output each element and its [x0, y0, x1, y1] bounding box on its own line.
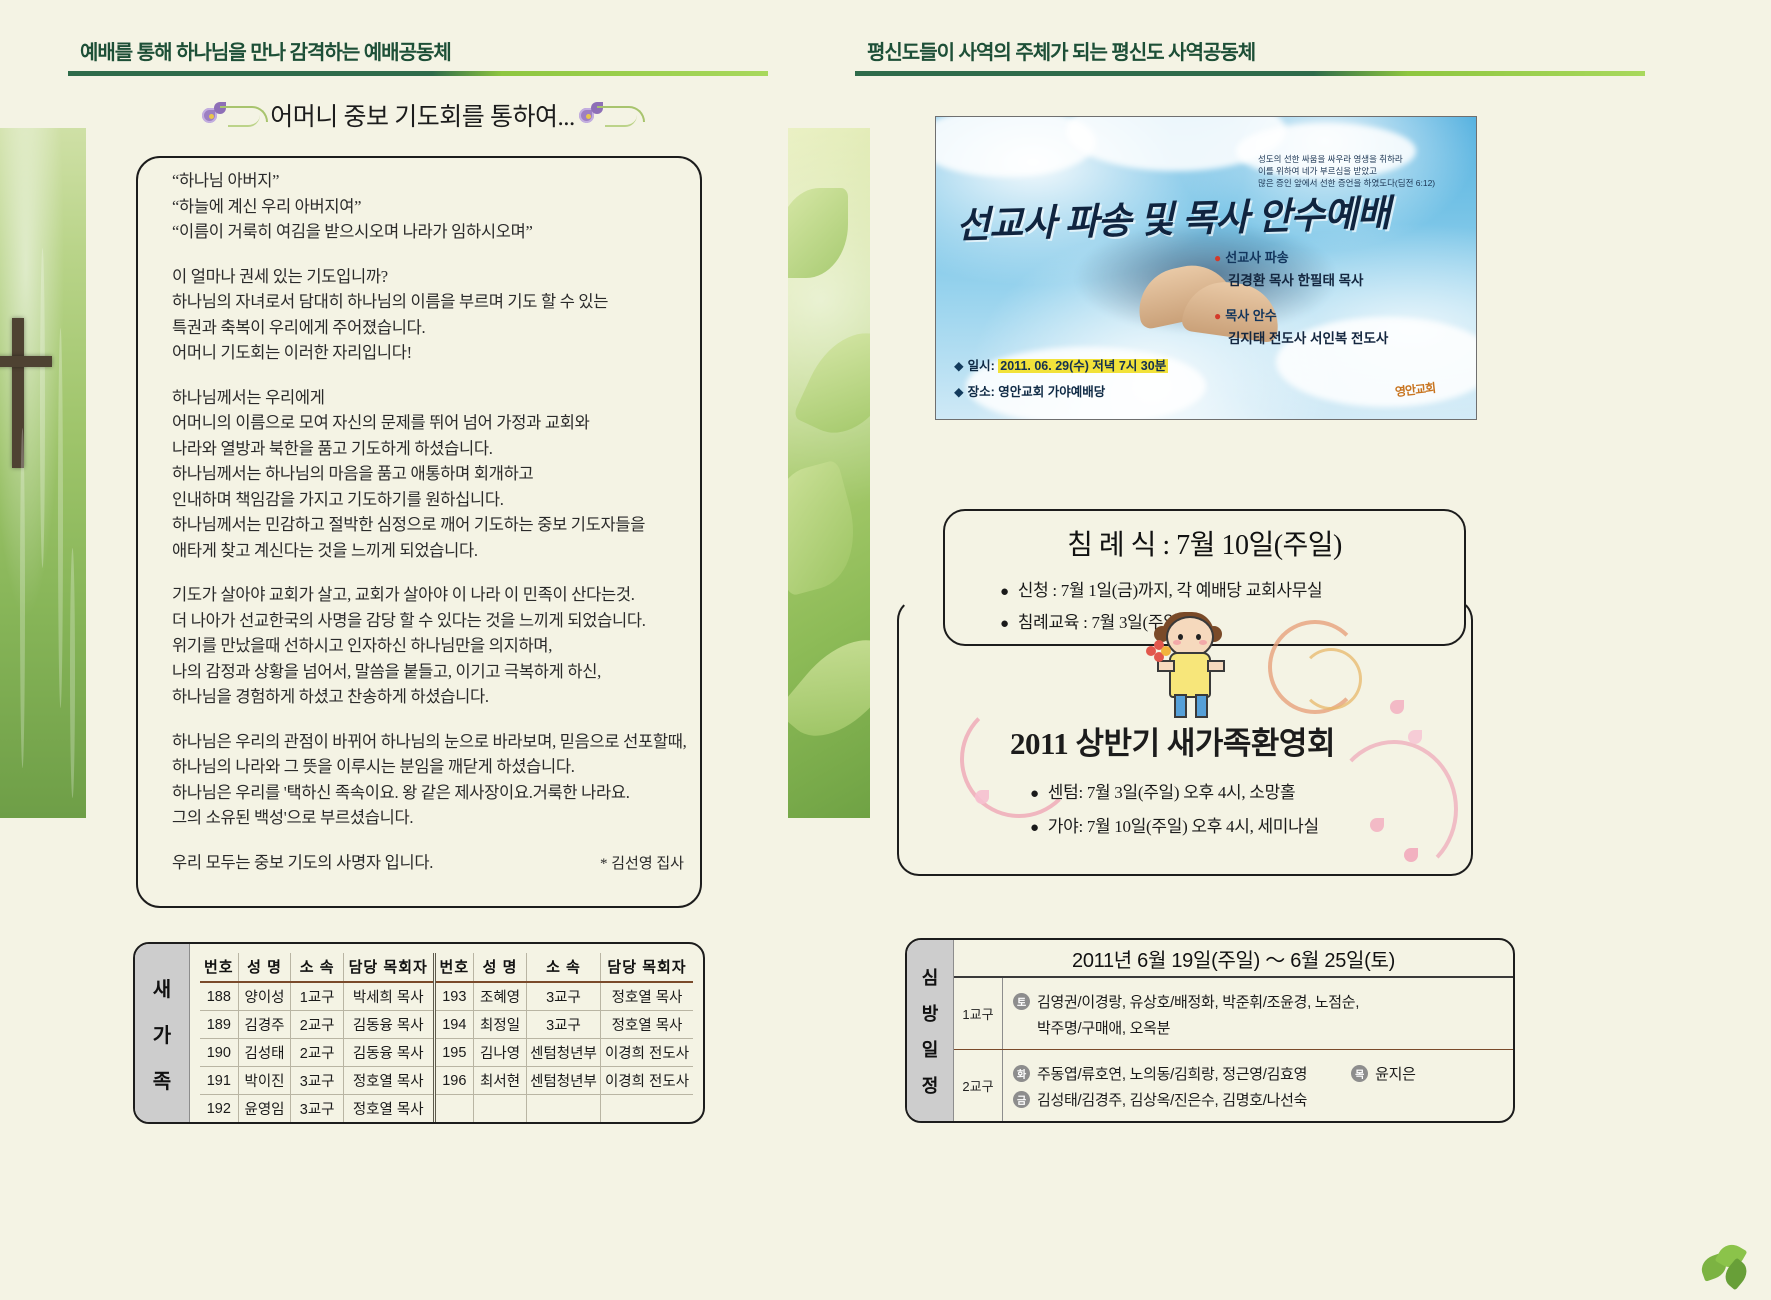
table-row: 191 박이진 3교구 정호열 목사 196 최서현 센텀청년부 이경희 전도사: [200, 1067, 693, 1095]
girl-illustration-icon: [1152, 612, 1226, 716]
cell-group-2: 센텀청년부: [526, 1039, 600, 1067]
visitation-row: 1교구 토 김영권/이경랑, 유상호/배정화, 박준휘/조윤경, 노점순, 박주…: [954, 978, 1513, 1050]
diamond-icon: ◆: [954, 385, 964, 399]
col-group: 소 속: [291, 953, 343, 982]
col-pastor: 담당 목회자: [343, 953, 434, 982]
bullet-icon: ●: [1030, 786, 1039, 802]
new-family-table-panel: 새 가 족 번호 성 명 소 속 담당 목회자 번호 성 명 소 속 담당 목회…: [133, 942, 705, 1124]
visitation-names: 김영권/이경랑, 유상호/배정화, 박준휘/조윤경, 노점순,: [1037, 991, 1359, 1012]
visitation-date-range: 2011년 6월 19일(주일) ～ 6월 25일(토): [954, 940, 1513, 978]
cell-pastor-2: 정호열 목사: [601, 1011, 693, 1039]
photo-strip-cross-field: [0, 128, 86, 818]
new-family-label: 새 가 족: [135, 944, 190, 1122]
cell-name-2: 김나영: [474, 1039, 527, 1067]
bulletin-page: 예배를 통해 하나님을 만나 감격하는 예배공동체 평신도들이 사역의 주체가 …: [0, 0, 1771, 1300]
cell-group: 3교구: [291, 1095, 343, 1123]
visitation-main: 2011년 6월 19일(주일) ～ 6월 25일(토) 1교구 토 김영권/이…: [954, 940, 1513, 1121]
col-pastor-2: 담당 목회자: [601, 953, 693, 982]
visitation-group: 1교구: [954, 978, 1003, 1049]
col-no: 번호: [200, 953, 238, 982]
table-row: 189 김경주 2교구 김동융 목사 194 최정일 3교구 정호열 목사: [200, 1011, 693, 1039]
article-body: “하나님 아버지” “하늘에 계신 우리 아버지여” “이름이 거룩히 여김을 …: [172, 168, 692, 875]
poster-item-names-1: 김경환 목사 한필태 목사: [1228, 269, 1363, 289]
bullet-icon: ●: [1030, 820, 1039, 836]
visitation-line: 금 김성태/김경주, 김상옥/진은수, 김명호/나선숙: [1013, 1089, 1505, 1110]
header-right-rule: [855, 71, 1645, 76]
col-group-2: 소 속: [526, 953, 600, 982]
missionary-ordination-poster: 성도의 선한 싸움을 싸우라 영생을 취하라 이를 위하여 네가 부르심을 받았…: [935, 116, 1477, 420]
visitation-label-char: 심: [922, 964, 939, 990]
header-left-rule: [68, 71, 768, 76]
header-right-text: 평신도들이 사역의 주체가 되는 평신도 사역공동체: [855, 36, 1645, 65]
visitation-names: 김성태/김경주, 김상옥/진은수, 김명호/나선숙: [1037, 1089, 1307, 1110]
article-paragraph: 이 얼마나 권세 있는 기도입니까? 하나님의 자녀로서 담대히 하나님의 이름…: [172, 264, 692, 366]
article-title-bar: 어머니 중보 기도회를 통하여...: [135, 92, 710, 138]
table-header-row: 번호 성 명 소 속 담당 목회자 번호 성 명 소 속 담당 목회자: [200, 953, 693, 982]
visitation-extra: 목 윤지은: [1329, 1063, 1416, 1084]
cell-name: 박이진: [238, 1067, 291, 1095]
welcome-title: 2011 상반기 새가족환영회: [1010, 718, 1430, 763]
new-family-label-char: 족: [153, 1065, 171, 1094]
col-name-2: 성 명: [474, 953, 527, 982]
visitation-line: 화 주동엽/류호연, 노의동/김희랑, 정근영/김효영 목 윤지은: [1013, 1063, 1505, 1084]
poster-place: ◆장소: 영안교회 가야예배당: [954, 381, 1105, 400]
visitation-entries: 화 주동엽/류호연, 노의동/김희랑, 정근영/김효영 목 윤지은 금 김성태/…: [1003, 1050, 1513, 1121]
cell-no: 191: [200, 1067, 238, 1095]
article-paragraph: 하나님은 우리의 관점이 바뀌어 하나님의 눈으로 바라보며, 믿음으로 선포할…: [172, 729, 692, 831]
header-right: 평신도들이 사역의 주체가 되는 평신도 사역공동체: [855, 36, 1645, 76]
header-left-text: 예배를 통해 하나님을 만나 감격하는 예배공동체: [68, 36, 768, 65]
poster-item-heading-1: ●선교사 파송: [1214, 247, 1289, 266]
table-row: 188 양이성 1교구 박세희 목사 193 조혜영 3교구 정호열 목사: [200, 982, 693, 1011]
cell-no-2: 193: [434, 982, 474, 1011]
visitation-label: 심 방 일 정: [907, 940, 954, 1121]
church-logo: 영안교회: [1370, 365, 1460, 414]
table-row: 192 윤영임 3교구 정호열 목사: [200, 1095, 693, 1123]
visitation-row: 2교구 화 주동엽/류호연, 노의동/김희랑, 정근영/김효영 목 윤지은 금 …: [954, 1050, 1513, 1121]
visitation-label-char: 일: [922, 1036, 939, 1062]
cell-name-2: 최정일: [474, 1011, 527, 1039]
poster-item-heading-2: ●목사 안수: [1214, 305, 1277, 324]
diamond-icon: ◆: [954, 359, 964, 373]
article-credit: * 김선영 집사: [172, 852, 684, 873]
new-family-table: 번호 성 명 소 속 담당 목회자 번호 성 명 소 속 담당 목회자 188 …: [200, 953, 693, 1122]
day-chip-icon: 목: [1351, 1065, 1368, 1082]
cell-group-2: 센텀청년부: [526, 1067, 600, 1095]
day-chip-icon: 화: [1013, 1065, 1030, 1082]
welcome-line-2: ●가야: 7월 10일(주일) 오후 4시, 세미나실: [1030, 812, 1319, 837]
cell-no-2: 196: [434, 1067, 474, 1095]
visitation-names: 박주명/구매애, 오옥분: [1037, 1017, 1170, 1038]
cell-no: 190: [200, 1039, 238, 1067]
article-paragraph: 하나님께서는 우리에게 어머니의 이름으로 모여 자신의 문제를 뛰어 넘어 가…: [172, 385, 692, 564]
cell-no-2: [434, 1095, 474, 1123]
article-paragraph: 기도가 살아야 교회가 살고, 교회가 살아야 이 나라 이 민족이 산다는것.…: [172, 582, 692, 710]
cell-group-2: [526, 1095, 600, 1123]
cell-name: 김경주: [238, 1011, 291, 1039]
cell-pastor-2: [601, 1095, 693, 1123]
cell-pastor-2: 이경희 전도사: [601, 1067, 693, 1095]
cell-pastor: 정호열 목사: [343, 1067, 434, 1095]
cell-pastor-2: 정호열 목사: [601, 982, 693, 1011]
bullet-icon: ●: [1214, 309, 1221, 323]
cell-name: 윤영임: [238, 1095, 291, 1123]
cell-pastor: 박세희 목사: [343, 982, 434, 1011]
cell-pastor: 김동융 목사: [343, 1039, 434, 1067]
cell-no-2: 195: [434, 1039, 474, 1067]
visitation-label-char: 정: [922, 1072, 939, 1098]
cell-name-2: 최서현: [474, 1067, 527, 1095]
cell-no: 189: [200, 1011, 238, 1039]
cell-pastor-2: 이경희 전도사: [601, 1039, 693, 1067]
visitation-line: 토 김영권/이경랑, 유상호/배정화, 박준휘/조윤경, 노점순,: [1013, 991, 1505, 1012]
cell-group: 2교구: [291, 1011, 343, 1039]
visitation-entries: 토 김영권/이경랑, 유상호/배정화, 박준휘/조윤경, 노점순, 박주명/구매…: [1003, 978, 1513, 1049]
visitation-line: 박주명/구매애, 오옥분: [1013, 1017, 1505, 1038]
visitation-label-char: 방: [922, 1000, 939, 1026]
poster-datetime: ◆일시: 2011. 06. 29(수) 저녁 7시 30분: [954, 355, 1168, 374]
cell-group: 2교구: [291, 1039, 343, 1067]
leaf-ornament-icon: [1701, 1240, 1755, 1286]
new-family-label-char: 새: [153, 973, 171, 1002]
new-family-table-wrap: 번호 성 명 소 속 담당 목회자 번호 성 명 소 속 담당 목회자 188 …: [190, 944, 703, 1122]
cell-name: 양이성: [238, 982, 291, 1011]
flower-ornament-left-icon: [198, 98, 270, 132]
cell-no: 192: [200, 1095, 238, 1123]
day-chip-icon: 금: [1013, 1091, 1030, 1108]
cell-no: 188: [200, 982, 238, 1011]
visitation-extra-names: 윤지은: [1375, 1063, 1416, 1084]
cell-group: 1교구: [291, 982, 343, 1011]
cell-group-2: 3교구: [526, 982, 600, 1011]
flower-ornament-right-icon: [575, 98, 647, 132]
cell-name-2: [474, 1095, 527, 1123]
visitation-names: 주동엽/류호연, 노의동/김희랑, 정근영/김효영: [1037, 1063, 1307, 1084]
swirl-ornament: [1300, 648, 1362, 710]
welcome-line-1: ●센텀: 7월 3일(주일) 오후 4시, 소망홀: [1030, 778, 1295, 803]
header-left: 예배를 통해 하나님을 만나 감격하는 예배공동체: [68, 36, 768, 76]
cell-pastor: 김동융 목사: [343, 1011, 434, 1039]
cell-no-2: 194: [434, 1011, 474, 1039]
bullet-icon: ●: [1214, 251, 1221, 265]
table-row: 190 김성태 2교구 김동융 목사 195 김나영 센텀청년부 이경희 전도사: [200, 1039, 693, 1067]
col-name: 성 명: [238, 953, 291, 982]
poster-item-names-2: 김지태 전도사 서인복 전도사: [1228, 327, 1388, 347]
photo-strip-leaves: [788, 128, 870, 818]
article-paragraph: “하나님 아버지” “하늘에 계신 우리 아버지여” “이름이 거룩히 여김을 …: [172, 168, 692, 245]
article-title: 어머니 중보 기도회를 통하여...: [270, 97, 575, 133]
visitation-group: 2교구: [954, 1050, 1003, 1121]
cell-group-2: 3교구: [526, 1011, 600, 1039]
baptism-title: 침 례 식 : 7월 10일(주일): [943, 523, 1466, 563]
new-family-label-char: 가: [153, 1019, 171, 1048]
cell-pastor: 정호열 목사: [343, 1095, 434, 1123]
visitation-schedule-panel: 심 방 일 정 2011년 6월 19일(주일) ～ 6월 25일(토) 1교구…: [905, 938, 1515, 1123]
cell-name: 김성태: [238, 1039, 291, 1067]
cell-group: 3교구: [291, 1067, 343, 1095]
day-chip-icon: 토: [1013, 993, 1030, 1010]
col-no-2: 번호: [434, 953, 474, 982]
cell-name-2: 조혜영: [474, 982, 527, 1011]
